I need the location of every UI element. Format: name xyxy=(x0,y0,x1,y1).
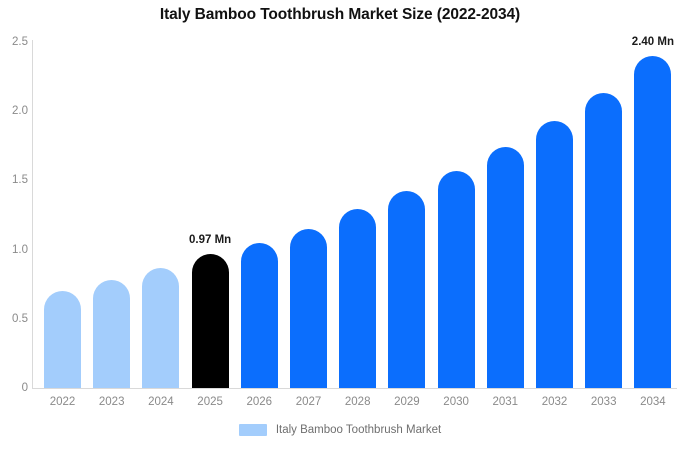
bar-slot xyxy=(142,42,179,388)
chart-legend: Italy Bamboo Toothbrush Market xyxy=(0,424,680,436)
bar-2023[interactable] xyxy=(93,280,130,388)
bar-slot xyxy=(192,42,229,388)
bar-slot xyxy=(438,42,475,388)
bar-2032[interactable] xyxy=(536,121,573,388)
bar-2030[interactable] xyxy=(438,171,475,388)
bar-slot xyxy=(388,42,425,388)
bar-slot xyxy=(487,42,524,388)
bar-slot xyxy=(585,42,622,388)
bar-2034[interactable] xyxy=(634,56,671,388)
bar-value-label-2025: 0.97 Mn xyxy=(189,234,231,246)
bar-value-label-2034: 2.40 Mn xyxy=(632,36,674,48)
x-axis-line xyxy=(32,388,677,389)
y-axis-tick-label: 2.0 xyxy=(2,105,28,117)
y-axis-tick-label: 1.5 xyxy=(2,174,28,186)
bar-chart: Italy Bamboo Toothbrush Market Size (202… xyxy=(0,0,680,450)
bar-slot xyxy=(339,42,376,388)
legend-label-italy-bamboo-toothbrush-market: Italy Bamboo Toothbrush Market xyxy=(276,424,441,436)
bar-2027[interactable] xyxy=(290,229,327,388)
bar-slot xyxy=(241,42,278,388)
bar-slot xyxy=(290,42,327,388)
bar-2029[interactable] xyxy=(388,191,425,388)
bar-slot xyxy=(634,42,671,388)
bar-2026[interactable] xyxy=(241,243,278,388)
bar-slot xyxy=(536,42,573,388)
bar-2028[interactable] xyxy=(339,209,376,388)
y-axis-tick-label: 2.5 xyxy=(2,36,28,48)
bar-2022[interactable] xyxy=(44,291,81,388)
bar-slot xyxy=(44,42,81,388)
y-axis-tick-label: 0.5 xyxy=(2,313,28,325)
y-axis-tick-label: 0 xyxy=(2,382,28,394)
y-axis-tick-label: 1.0 xyxy=(2,244,28,256)
bar-2024[interactable] xyxy=(142,268,179,388)
x-axis-tick-label-2034: 2034 xyxy=(623,396,680,408)
bar-2031[interactable] xyxy=(487,147,524,388)
legend-swatch-italy-bamboo-toothbrush-market xyxy=(239,424,267,436)
plot-area xyxy=(32,42,677,388)
chart-title: Italy Bamboo Toothbrush Market Size (202… xyxy=(0,6,680,24)
y-axis-tick-labels: 00.51.01.52.02.5 xyxy=(0,0,28,450)
bar-2025[interactable] xyxy=(192,254,229,388)
bar-slot xyxy=(93,42,130,388)
bar-2033[interactable] xyxy=(585,93,622,388)
